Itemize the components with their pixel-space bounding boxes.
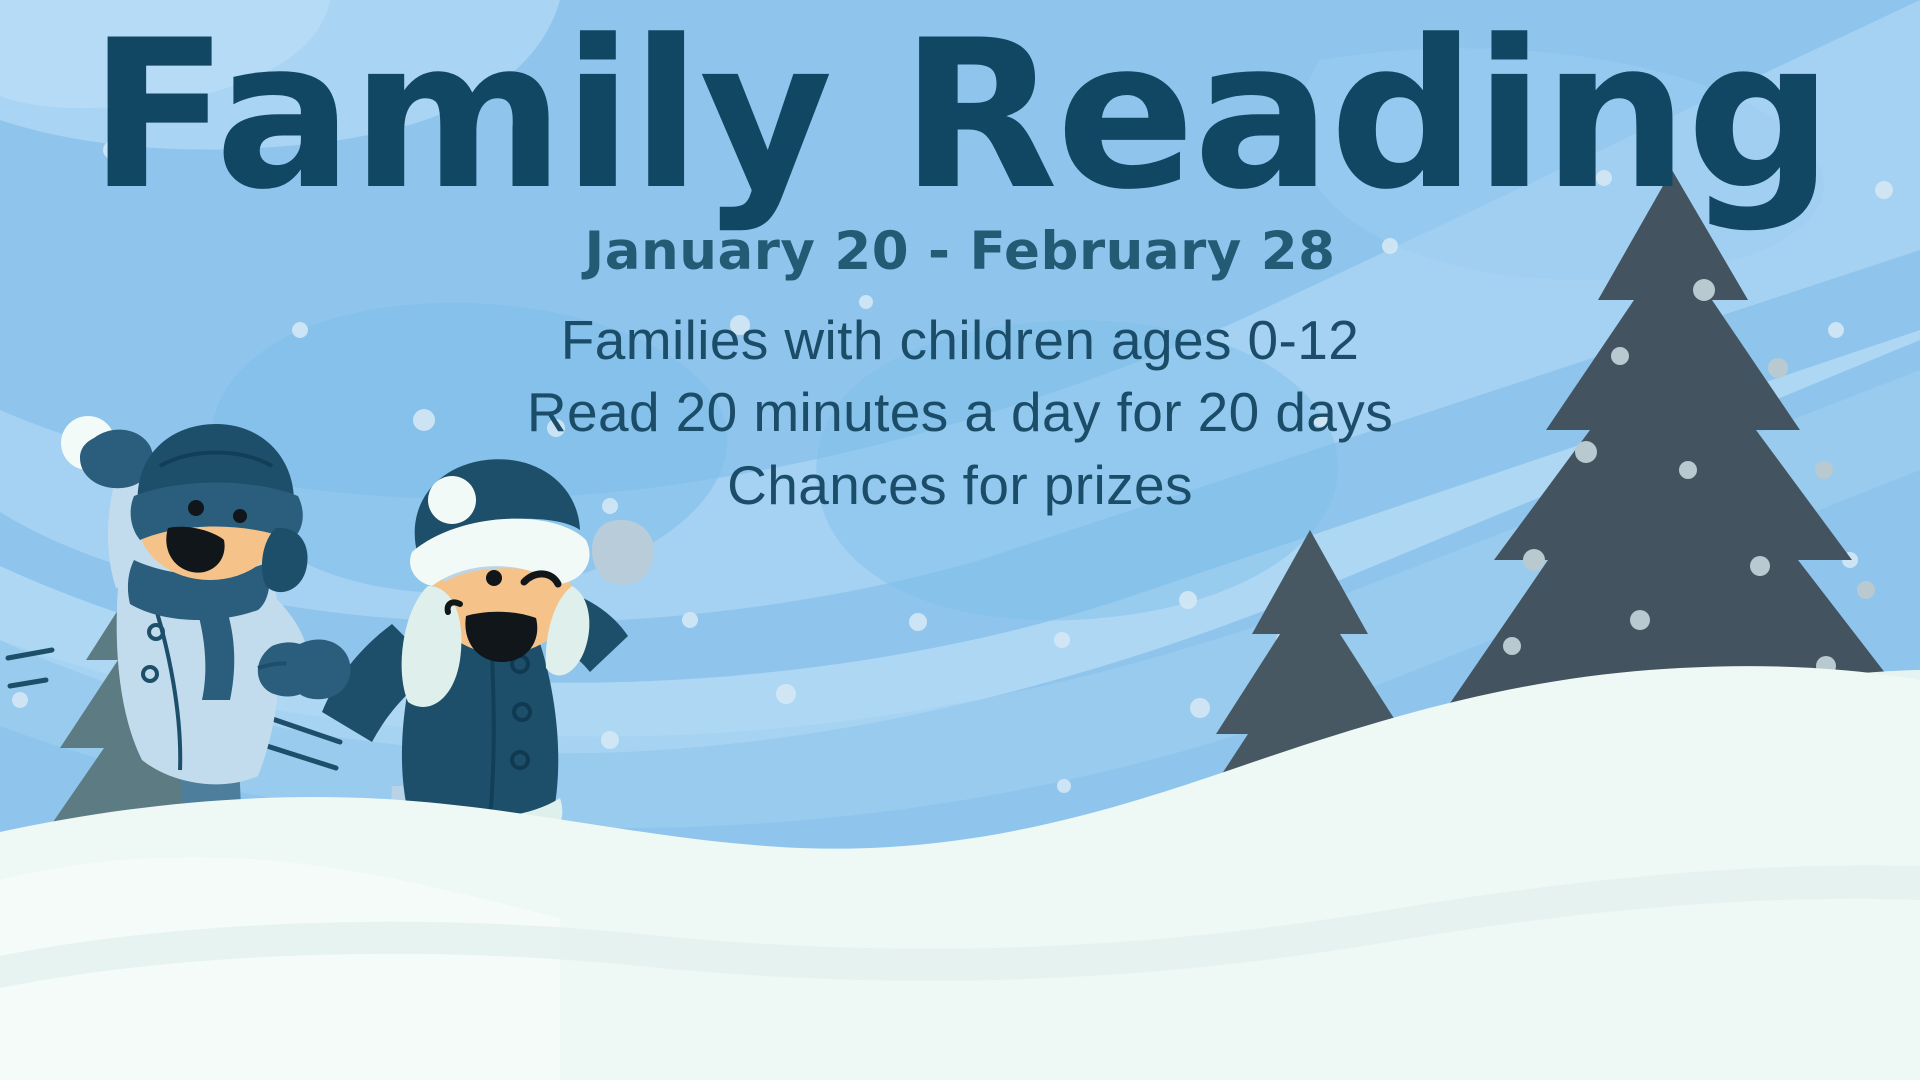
winter-reading-poster: Family Reading January 20 - February 28 … xyxy=(0,0,1920,1080)
snow-ground xyxy=(0,0,1920,1080)
